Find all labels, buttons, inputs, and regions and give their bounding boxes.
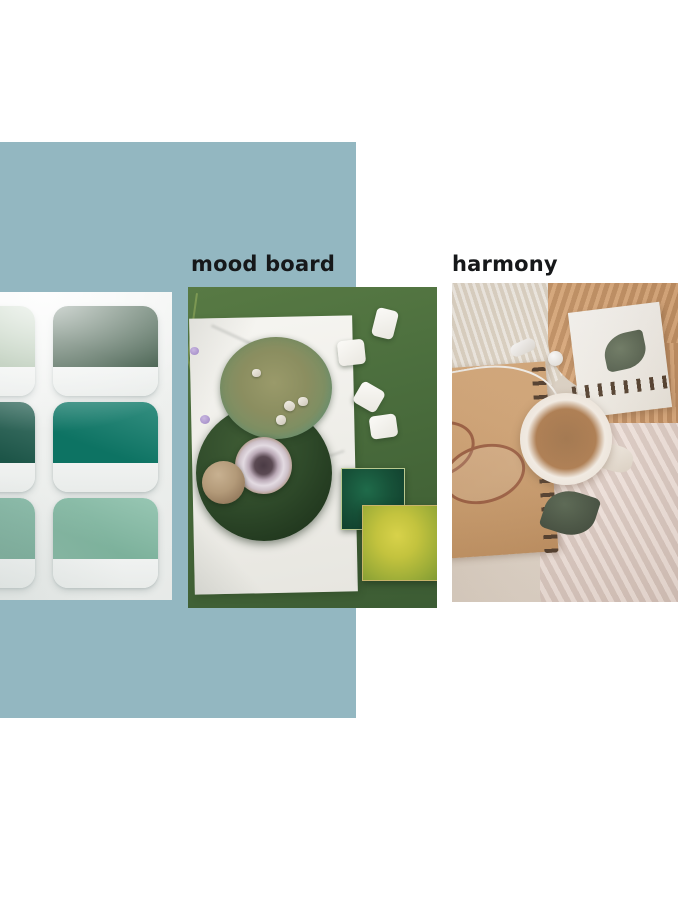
- textured-brown-sphere: [202, 461, 245, 504]
- purple-flower: [190, 347, 199, 355]
- swatch-label-strip: [53, 367, 158, 396]
- color-swatch-grid: [0, 306, 158, 588]
- page-title-harmony: harmony: [452, 254, 558, 275]
- white-tile: [369, 413, 399, 440]
- white-tile: [371, 307, 399, 340]
- color-swatch-mint-green[interactable]: [53, 498, 158, 588]
- swatch-label-strip: [53, 559, 158, 588]
- white-stone: [252, 369, 261, 377]
- swatch-chip: [0, 402, 35, 463]
- earbud: [548, 351, 563, 366]
- swatch-label-strip: [0, 559, 35, 588]
- color-swatch-forest-deep[interactable]: [53, 306, 158, 396]
- swatch-label-strip: [0, 463, 35, 492]
- color-swatch-emerald-teal[interactable]: [53, 402, 158, 492]
- page-title-mood-board: mood board: [191, 254, 335, 275]
- color-swatch-sea-green[interactable]: [0, 498, 35, 588]
- swatch-label-strip: [0, 367, 35, 396]
- coffee-mug: [520, 393, 612, 485]
- white-tile: [337, 339, 366, 367]
- white-stone: [298, 397, 308, 406]
- yellow-glazed-tile: [362, 505, 437, 581]
- swatch-chip: [53, 402, 158, 463]
- moodboard-canvas: mood board harmony: [0, 0, 678, 904]
- color-swatch-sage-light[interactable]: [0, 306, 35, 396]
- swatch-chip: [0, 498, 35, 559]
- white-tile: [352, 380, 387, 414]
- swatch-chip: [0, 306, 35, 367]
- right-photo: [452, 283, 678, 602]
- center-photo: [188, 287, 437, 608]
- green-ceramic-plate: [220, 337, 332, 439]
- white-stone: [276, 415, 286, 425]
- swatch-chip: [53, 498, 158, 559]
- swatch-chip: [53, 306, 158, 367]
- swatch-label-strip: [53, 463, 158, 492]
- color-swatch-panel: [0, 292, 172, 600]
- color-swatch-pine-teal[interactable]: [0, 402, 35, 492]
- purple-flower: [200, 415, 210, 424]
